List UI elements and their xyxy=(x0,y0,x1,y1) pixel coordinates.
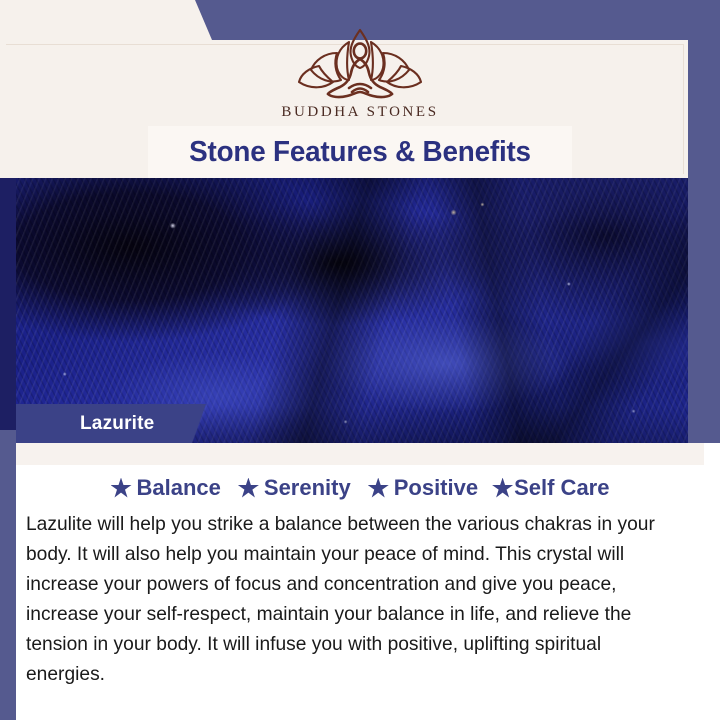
benefit-item-self-care: Self Care xyxy=(492,475,609,501)
benefit-item-balance: Balance xyxy=(111,475,221,501)
description-text: Lazulite will help you strike a balance … xyxy=(26,509,682,689)
frame-left-accent xyxy=(0,430,16,720)
brand-name: BUDDHA STONES xyxy=(281,104,438,121)
benefit-label: Balance xyxy=(137,475,221,501)
star-icon xyxy=(492,478,513,499)
benefit-label: Serenity xyxy=(264,475,351,501)
lotus-meditation-icon xyxy=(285,22,435,100)
brand-logo: BUDDHA STONES xyxy=(0,22,720,121)
photo-layer-vignette xyxy=(0,178,720,443)
star-icon xyxy=(111,478,132,499)
title-band: Stone Features & Benefits xyxy=(148,126,572,178)
content-top-strip xyxy=(16,443,704,465)
star-icon xyxy=(368,478,389,499)
stone-name-text: Lazurite xyxy=(80,413,154,435)
photo-left-edge-accent xyxy=(0,178,16,430)
benefits-row: Balance Serenity Positive Self Care xyxy=(16,475,704,501)
page-title: Stone Features & Benefits xyxy=(189,136,531,169)
benefit-label: Self Care xyxy=(514,475,609,501)
star-icon xyxy=(238,478,259,499)
infographic-card: BUDDHA STONES Stone Features & Benefits … xyxy=(0,0,720,720)
benefit-label: Positive xyxy=(394,475,478,501)
stone-name-badge: Lazurite xyxy=(16,404,206,443)
benefit-item-positive: Positive xyxy=(368,475,478,501)
stone-photo xyxy=(0,178,720,443)
benefit-item-serenity: Serenity xyxy=(238,475,351,501)
